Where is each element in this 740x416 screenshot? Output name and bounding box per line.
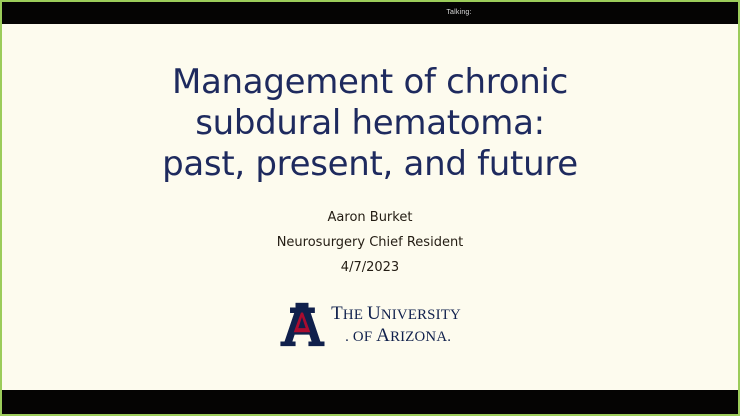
talking-status-label: Talking: bbox=[446, 4, 471, 22]
player-bottom-bar bbox=[2, 390, 738, 414]
presentation-slide: Management of chronic subdural hematoma:… bbox=[2, 24, 738, 390]
presenter-name: Aaron Burket bbox=[277, 205, 464, 230]
talking-status-bar: Talking: bbox=[2, 4, 738, 22]
slide-title-line-3: past, present, and future bbox=[162, 144, 578, 185]
block-a-icon bbox=[279, 302, 325, 347]
university-of-arizona-wordmark: THE UNIVERSITY . OF ARIZONA. bbox=[331, 304, 461, 345]
slide-subtitle: Aaron Burket Neurosurgery Chief Resident… bbox=[277, 205, 464, 280]
slide-title: Management of chronic subdural hematoma:… bbox=[162, 62, 578, 185]
university-of-arizona-logo: THE UNIVERSITY . OF ARIZONA. bbox=[279, 302, 461, 347]
wordmark-line-1: THE UNIVERSITY bbox=[331, 304, 461, 323]
presentation-date: 4/7/2023 bbox=[277, 255, 464, 280]
slide-title-line-1: Management of chronic bbox=[162, 62, 578, 103]
slide-title-line-2: subdural hematoma: bbox=[162, 103, 578, 144]
player-top-bar: Talking: bbox=[2, 2, 738, 24]
video-player-frame: Talking: Management of chronic subdural … bbox=[0, 0, 740, 416]
presenter-title: Neurosurgery Chief Resident bbox=[277, 230, 464, 255]
wordmark-line-2: . OF ARIZONA. bbox=[331, 326, 461, 345]
